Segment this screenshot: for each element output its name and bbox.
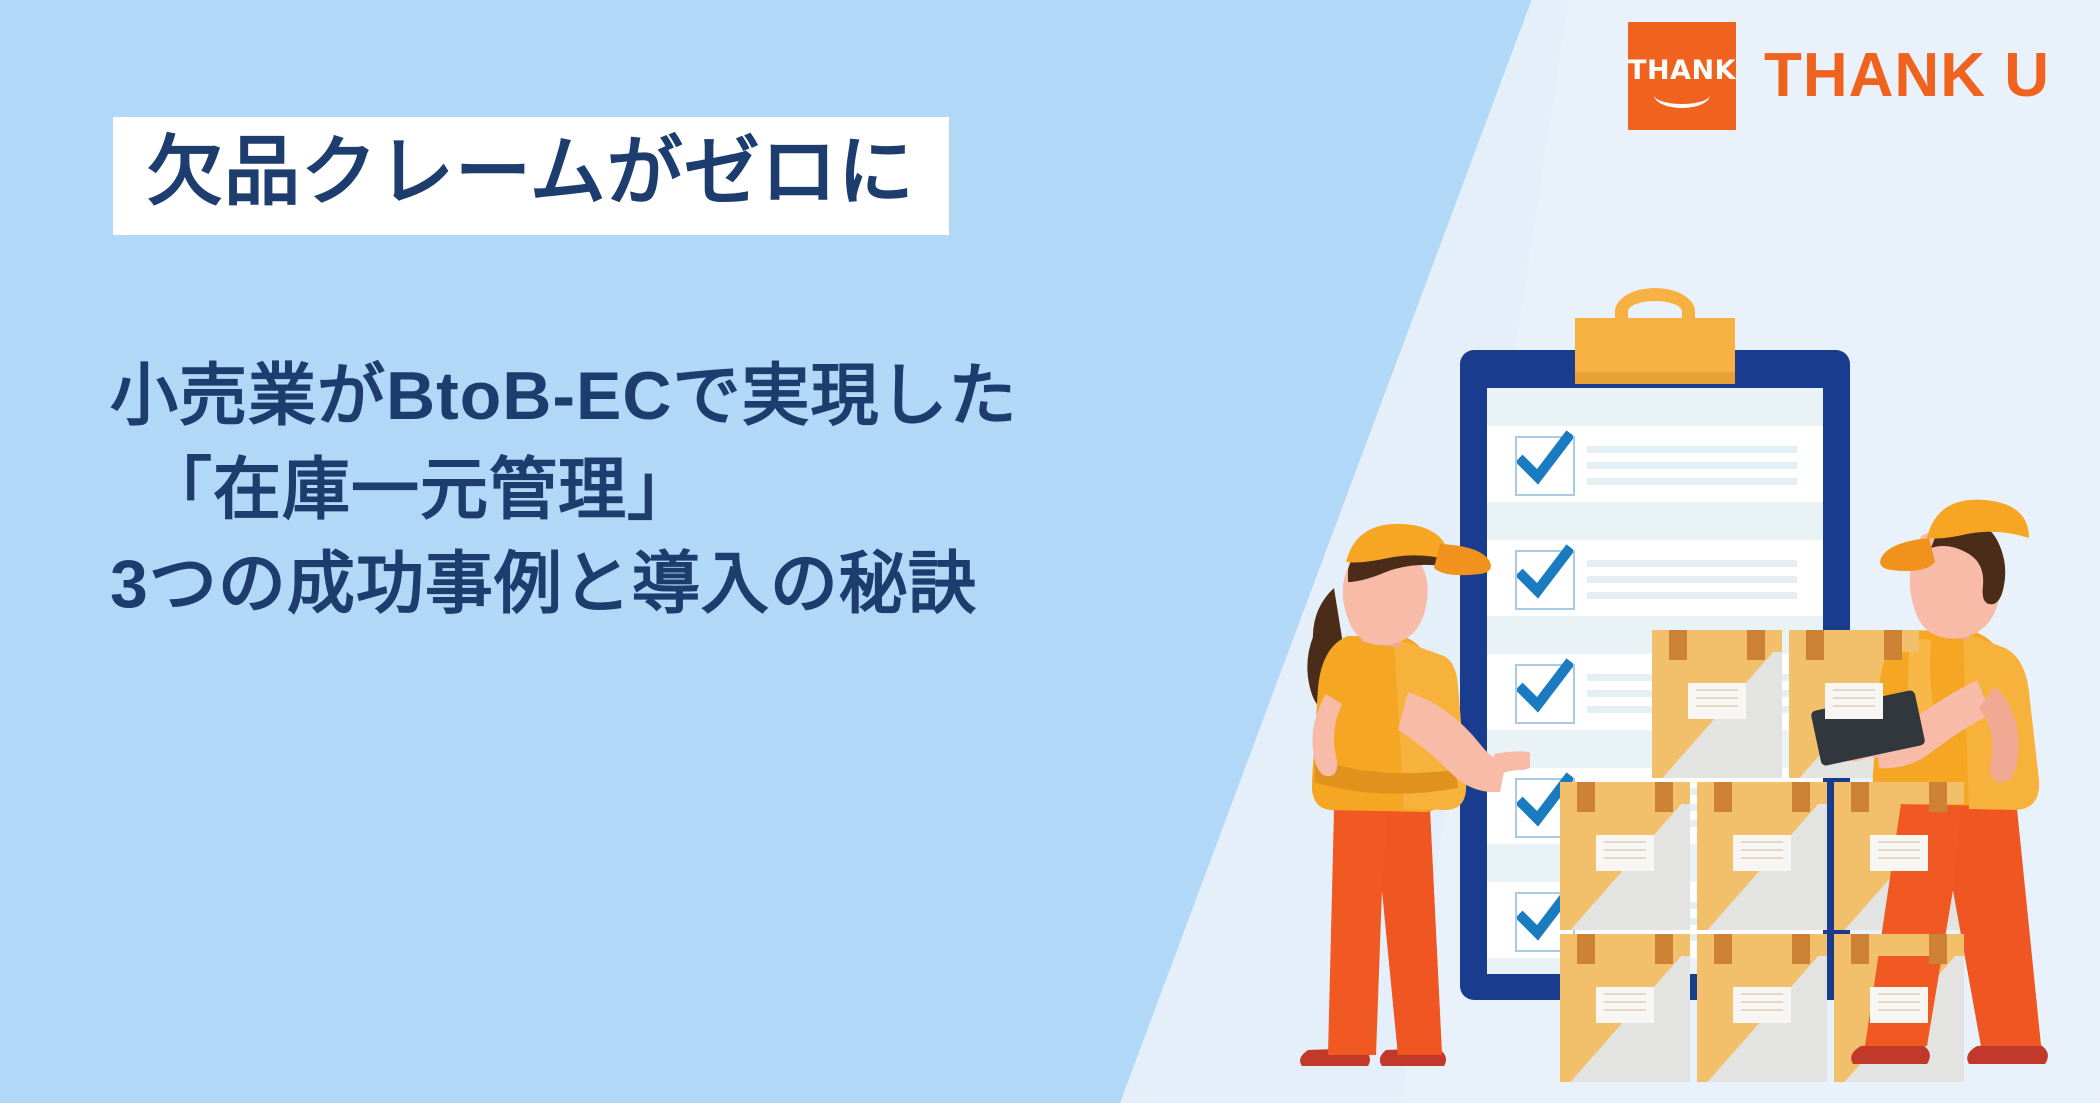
smile-icon: [1654, 82, 1710, 108]
brand-logo[interactable]: THANK THANK U: [1628, 22, 2050, 130]
checklist-item: [1487, 540, 1823, 616]
subtitle-block: 小売業がBtoB-ECで実現した 「在庫一元管理」 3つの成功事例と導入の秘訣: [110, 350, 1410, 631]
clipboard-clip-icon: [1575, 318, 1735, 384]
box-label: [1596, 987, 1653, 1023]
cardboard-box: [1697, 782, 1827, 930]
headline-band: 欠品クレームがゼロに: [113, 117, 949, 235]
checklist-item-lines: [1587, 446, 1797, 494]
box-label: [1688, 683, 1745, 719]
box-label: [1733, 835, 1790, 871]
logo-wordmark: THANK U: [1764, 45, 2050, 107]
poster-canvas: THANK THANK U 欠品クレームがゼロに 小売業がBtoB-ECで実現し…: [0, 0, 2100, 1103]
subtitle-line-3: 3つの成功事例と導入の秘訣: [110, 538, 1410, 632]
subtitle-line-2: 「在庫一元管理」: [110, 444, 1410, 538]
cardboard-box: [1697, 934, 1827, 1082]
checklist-item-lines: [1587, 560, 1797, 608]
page-title: 欠品クレームがゼロに: [147, 133, 915, 213]
cardboard-box: [1560, 934, 1690, 1082]
box-label: [1596, 835, 1653, 871]
subtitle-line-1: 小売業がBtoB-ECで実現した: [110, 350, 1410, 444]
cardboard-box: [1652, 630, 1782, 778]
logo-mark-icon: THANK: [1628, 22, 1736, 130]
box-label: [1870, 835, 1927, 871]
box-label: [1870, 987, 1927, 1023]
check-icon: [1517, 428, 1573, 492]
logo-mark-label: THANK: [1628, 55, 1736, 86]
cardboard-box: [1560, 782, 1690, 930]
worker-female-pointing: [1290, 510, 1530, 1080]
checklist-item: [1487, 426, 1823, 502]
box-label: [1733, 987, 1790, 1023]
box-label: [1825, 683, 1882, 719]
inventory-checklist-illustration: [1300, 330, 2100, 1103]
